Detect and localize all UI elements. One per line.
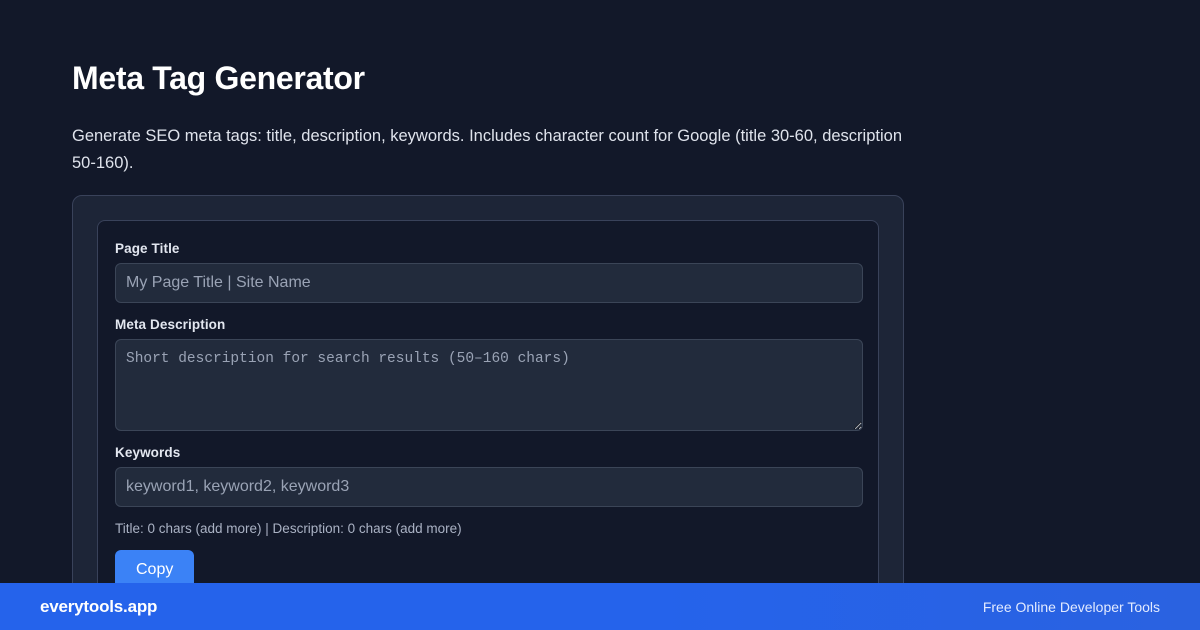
page-title-field-group: Page Title — [115, 241, 861, 303]
site-footer: everytools.app Free Online Developer Too… — [0, 583, 1200, 630]
page-header: Meta Tag Generator Generate SEO meta tag… — [0, 0, 1200, 176]
page-content: Meta Tag Generator Generate SEO meta tag… — [0, 0, 1200, 583]
page-title-input[interactable] — [115, 263, 863, 303]
tool-card: Page Title Meta Description Keywords Tit… — [72, 195, 904, 583]
meta-description-label: Meta Description — [115, 317, 861, 332]
character-count-status: Title: 0 chars (add more) | Description:… — [115, 521, 861, 536]
footer-brand[interactable]: everytools.app — [40, 597, 157, 617]
keywords-label: Keywords — [115, 445, 861, 460]
meta-description-textarea[interactable] — [115, 339, 863, 431]
meta-description-field-group: Meta Description — [115, 317, 861, 431]
page-subtitle: Generate SEO meta tags: title, descripti… — [72, 123, 907, 176]
page-title: Meta Tag Generator — [72, 60, 1200, 97]
copy-button[interactable]: Copy — [115, 550, 194, 583]
keywords-field-group: Keywords — [115, 445, 861, 507]
page-title-label: Page Title — [115, 241, 861, 256]
meta-tag-form: Page Title Meta Description Keywords Tit… — [97, 220, 879, 583]
keywords-input[interactable] — [115, 467, 863, 507]
footer-tagline: Free Online Developer Tools — [983, 599, 1160, 615]
